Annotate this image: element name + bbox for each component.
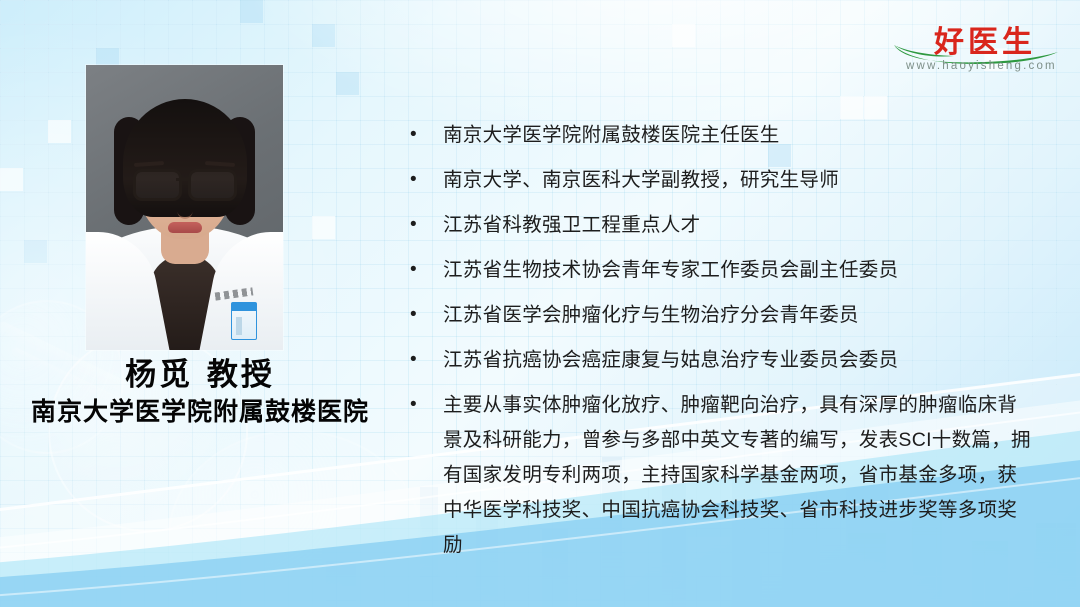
list-item-text: 南京大学、南京医科大学副教授，研究生导师 — [443, 163, 1035, 197]
list-item: • 南京大学、南京医科大学副教授，研究生导师 — [410, 163, 1035, 197]
bullet-marker-icon: • — [410, 388, 443, 422]
portrait-id-badge — [231, 302, 257, 340]
brand-logo: 好医生 www.haoyisheng.com — [890, 14, 1066, 80]
portrait-nose — [177, 197, 192, 219]
logo-brand-name: 好医生 — [934, 17, 1036, 61]
list-item-text: 江苏省抗癌协会癌症康复与姑息治疗专业委员会委员 — [443, 343, 1035, 377]
list-item: • 江苏省医学会肿瘤化疗与生物治疗分会青年委员 — [410, 298, 1035, 332]
bullet-marker-icon: • — [410, 253, 443, 287]
glasses-lens-left — [133, 169, 182, 201]
bullet-marker-icon: • — [410, 163, 443, 197]
portrait-lips — [168, 222, 202, 233]
list-item: • 南京大学医学院附属鼓楼医院主任医生 — [410, 118, 1035, 152]
glasses-lens-right — [188, 169, 237, 201]
list-item: • 江苏省抗癌协会癌症康复与姑息治疗专业委员会委员 — [410, 343, 1035, 377]
bullet-marker-icon: • — [410, 298, 443, 332]
list-item-text: 南京大学医学院附属鼓楼医院主任医生 — [443, 118, 1035, 152]
speaker-name: 杨觅 教授 — [0, 358, 400, 392]
speaker-credentials-list: • 南京大学医学院附属鼓楼医院主任医生 • 南京大学、南京医科大学副教授，研究生… — [410, 118, 1035, 574]
list-item-text: 江苏省医学会肿瘤化疗与生物治疗分会青年委员 — [443, 298, 1035, 332]
list-item-text: 江苏省科教强卫工程重点人才 — [443, 208, 1035, 242]
speaker-caption: 杨觅 教授 南京大学医学院附属鼓楼医院 — [0, 358, 400, 426]
bullet-marker-icon: • — [410, 208, 443, 242]
logo-website-url: www.haoyisheng.com — [906, 60, 1057, 72]
speaker-organization: 南京大学医学院附属鼓楼医院 — [0, 398, 400, 426]
bullet-marker-icon: • — [410, 343, 443, 377]
list-item: • 江苏省生物技术协会青年专家工作委员会副主任委员 — [410, 253, 1035, 287]
speaker-portrait-photo — [86, 65, 283, 350]
list-item-text: 江苏省生物技术协会青年专家工作委员会副主任委员 — [443, 253, 1035, 287]
presentation-slide: 杨觅 教授 南京大学医学院附属鼓楼医院 • 南京大学医学院附属鼓楼医院主任医生 … — [0, 0, 1080, 607]
list-item-text: 主要从事实体肿瘤化放疗、肿瘤靶向治疗，具有深厚的肿瘤临床背景及科研能力，曾参与多… — [443, 388, 1035, 563]
portrait-glasses — [133, 169, 237, 196]
bullet-marker-icon: • — [410, 118, 443, 152]
list-item: • 主要从事实体肿瘤化放疗、肿瘤靶向治疗，具有深厚的肿瘤临床背景及科研能力，曾参… — [410, 388, 1035, 563]
list-item: • 江苏省科教强卫工程重点人才 — [410, 208, 1035, 242]
